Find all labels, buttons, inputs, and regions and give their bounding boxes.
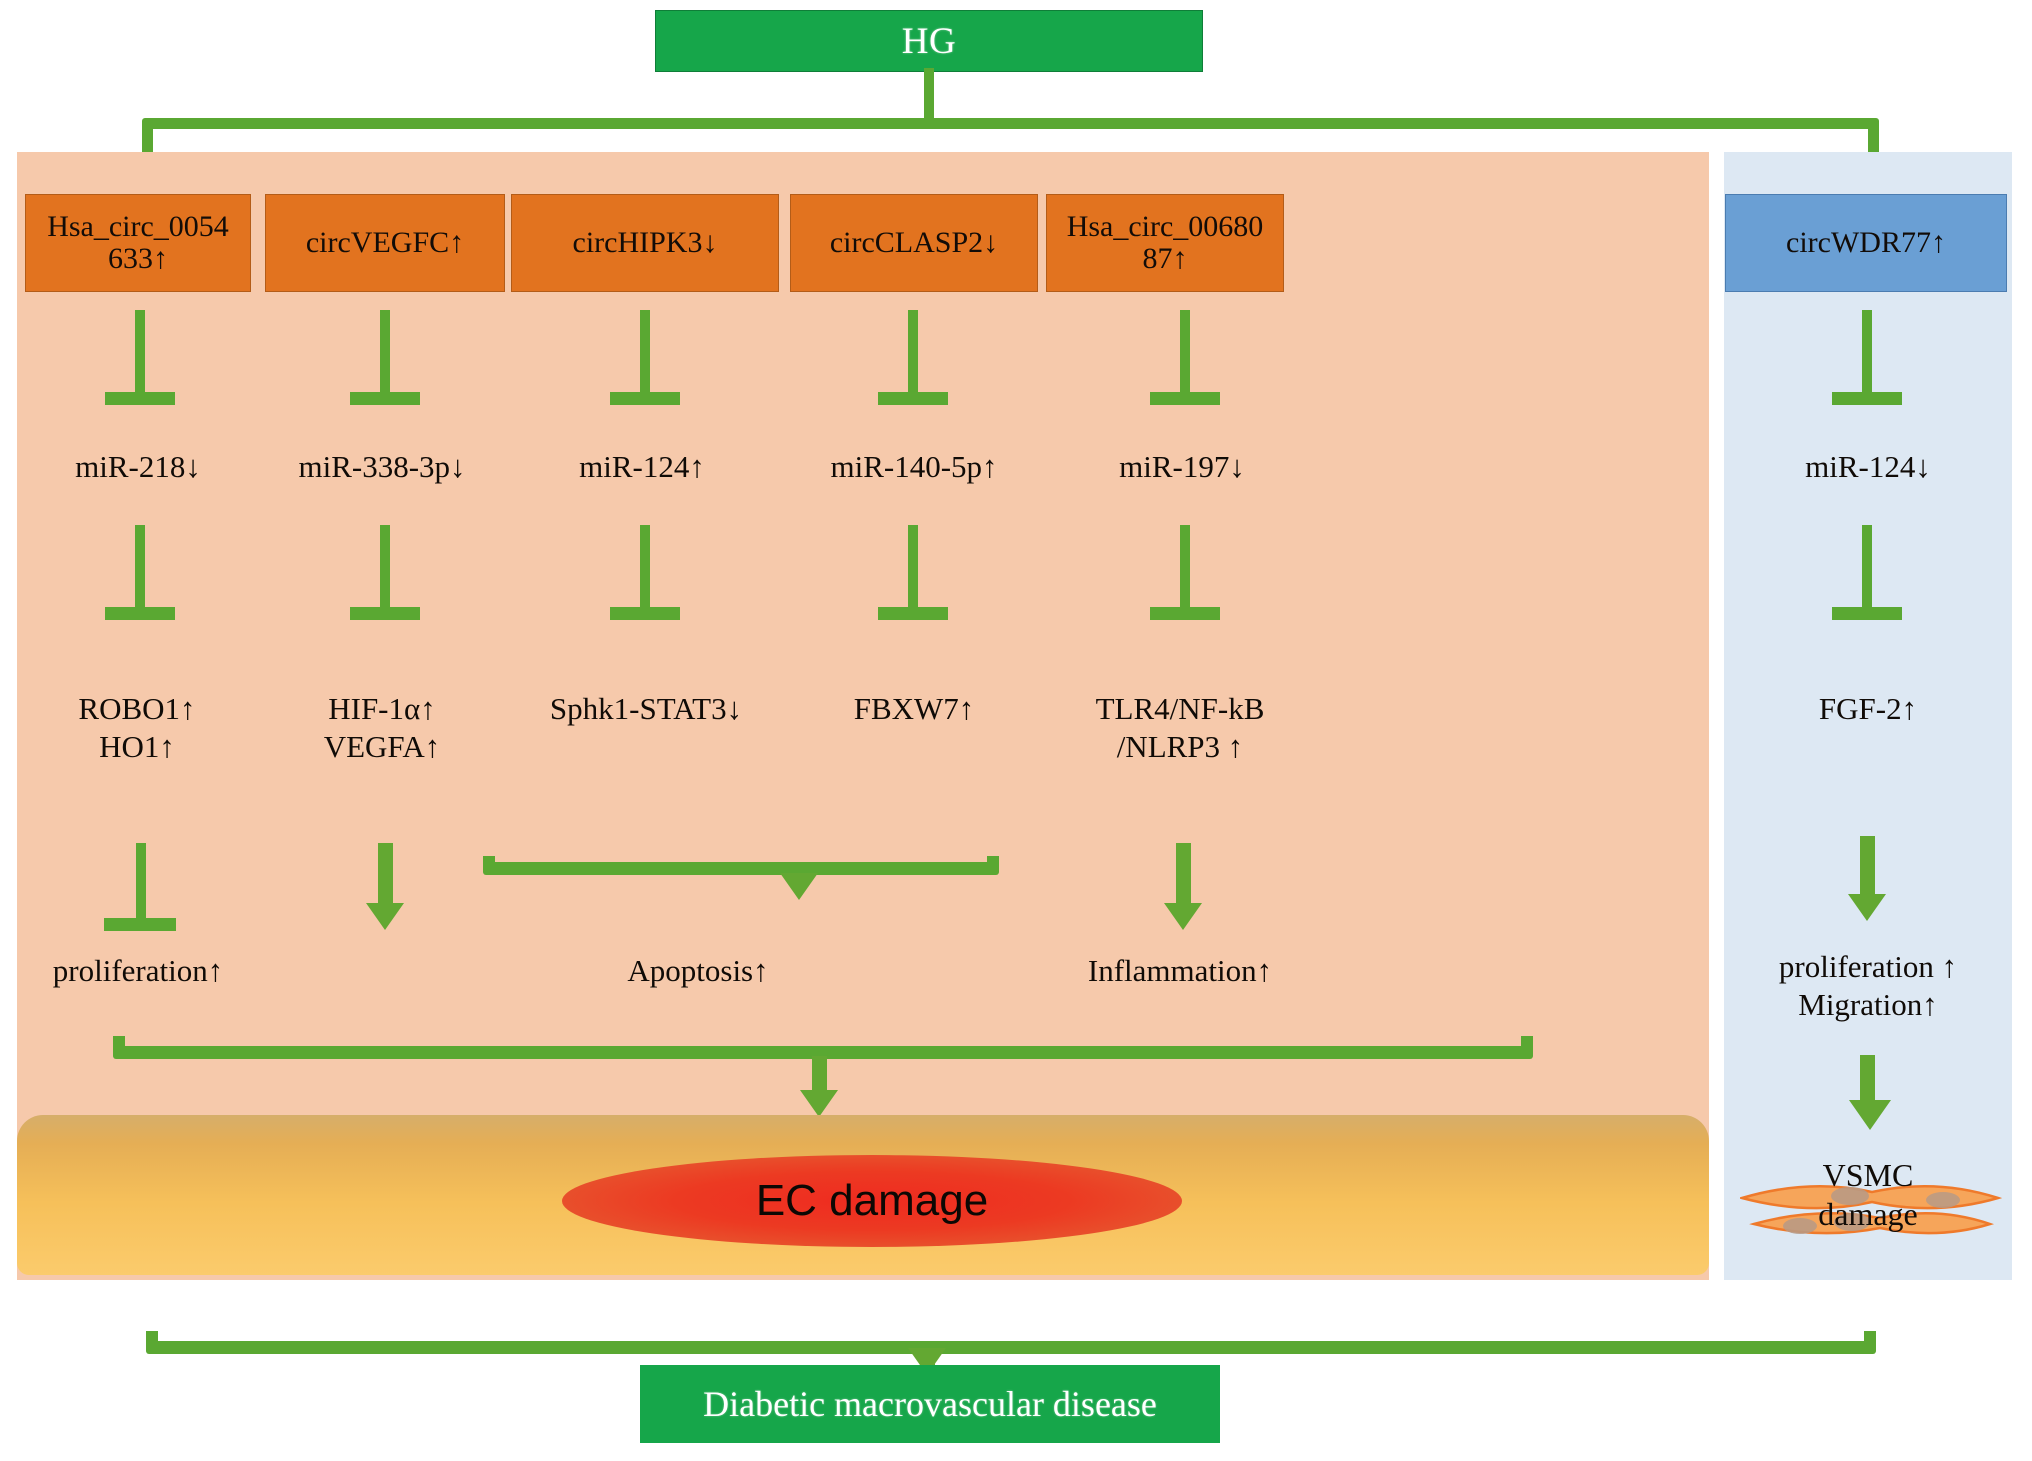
apoptosis-bracket-leg-right — [987, 856, 999, 872]
circrna-box-circwdr77[interactable]: circWDR77↑ — [1725, 194, 2007, 292]
activation-head-col5-effect — [1164, 903, 1202, 930]
hg-stem-connector — [924, 68, 934, 124]
vsmc-damage-arrow-shaft — [1860, 1055, 1875, 1103]
mirna-label-col4: miR-140-5p↑ — [790, 448, 1038, 486]
inhibition-stem-col1-mirna — [135, 310, 145, 395]
inhibition-stem-col3-mirna — [640, 310, 650, 395]
inhibition-foot-col3-target — [610, 607, 680, 620]
circrna-box-hsa-circ-0068087[interactable]: Hsa_circ_00680 87↑ — [1046, 194, 1284, 292]
target-label-col2: HIF-1α↑ VEGFA↑ — [262, 690, 502, 766]
activation-head-col6-effect — [1848, 894, 1886, 921]
circrna-box-circhipk3[interactable]: circHIPK3↓ — [511, 194, 779, 292]
inhibition-foot-col2-mirna — [350, 392, 420, 405]
ec-damage-label: EC damage — [562, 1176, 1182, 1226]
disease-bracket-leg-right — [1864, 1331, 1876, 1351]
target-label-col1: ROBO1↑ HO1↑ — [28, 690, 246, 766]
inhibition-stem-col2-mirna — [380, 310, 390, 395]
activation-head-col2-effect — [366, 903, 404, 930]
inhibition-foot-col4-mirna — [878, 392, 948, 405]
vsmc-damage-label: VSMC damage — [1724, 1156, 2012, 1234]
effect-label-proliferation: proliferation↑ — [26, 952, 250, 990]
effect-label-vsmc-effects: proliferation ↑ Migration↑ — [1724, 948, 2012, 1024]
circrna-label: circCLASP2↓ — [830, 227, 998, 259]
disease-bracket-leg-left — [146, 1331, 158, 1351]
inhibition-stem-col5-target — [1180, 525, 1190, 610]
inhibition-foot-col4-target — [878, 607, 948, 620]
ec-damage-bracket-leg-right — [1521, 1036, 1533, 1056]
vsmc-damage-arrow-head — [1849, 1100, 1891, 1130]
target-label-col4: FBXW7↑ — [790, 690, 1038, 728]
stimulus-label: HG — [902, 20, 956, 63]
circrna-label: Hsa_circ_00680 87↑ — [1051, 211, 1279, 276]
mirna-label-col3: miR-124↑ — [522, 448, 762, 486]
mirna-label-col1: miR-218↓ — [30, 448, 246, 486]
apoptosis-bracket-leg-left — [483, 856, 495, 872]
mirna-label-col6: miR-124↓ — [1724, 448, 2012, 486]
inhibition-foot-col3-mirna — [610, 392, 680, 405]
apoptosis-bracket-arrowhead — [780, 873, 818, 900]
ec-damage-arrow-shaft — [812, 1056, 827, 1094]
ec-damage-bracket-leg-left — [113, 1036, 125, 1056]
inhibition-stem-col2-target — [380, 525, 390, 610]
circrna-label: circHIPK3↓ — [573, 227, 718, 259]
stimulus-node-hg: HG — [655, 10, 1203, 72]
target-label-col6: FGF-2↑ — [1724, 690, 2012, 728]
inhibition-stem-col5-mirna — [1180, 310, 1190, 395]
inhibition-stem-col1-target — [135, 525, 145, 610]
activation-shaft-col5-effect — [1176, 843, 1191, 905]
target-label-col3: Sphk1-STAT3↓ — [512, 690, 780, 728]
target-label-col5: TLR4/NF-kB /NLRP3 ↑ — [1058, 690, 1302, 766]
effect-label-inflammation: Inflammation↑ — [1046, 952, 1314, 990]
inhibition-foot-col1-target — [105, 607, 175, 620]
pathway-diagram: HG Hsa_circ_0054 633↑ circVEGFC↑ circHIP… — [0, 0, 2032, 1461]
inhibition-stem-col4-mirna — [908, 310, 918, 395]
disease-bracket-bar — [146, 1341, 1876, 1354]
outcome-node-disease: Diabetic macrovascular disease — [640, 1365, 1220, 1443]
circrna-label: Hsa_circ_0054 633↑ — [30, 211, 246, 276]
circrna-label: circWDR77↑ — [1786, 227, 1946, 259]
outcome-label: Diabetic macrovascular disease — [703, 1383, 1157, 1425]
inhibition-foot-col6-mirna — [1832, 392, 1902, 405]
inhibition-foot-col5-mirna — [1150, 392, 1220, 405]
inhibition-foot-col5-target — [1150, 607, 1220, 620]
inhibition-stem-col3-target — [640, 525, 650, 610]
inhibition-foot-col2-target — [350, 607, 420, 620]
activation-shaft-col2-effect — [378, 843, 393, 905]
inhibition-foot-col1-effect — [104, 918, 176, 931]
activation-shaft-col6-effect — [1860, 836, 1875, 896]
circrna-label: circVEGFC↑ — [306, 227, 464, 259]
circrna-box-hsa-circ-0054633[interactable]: Hsa_circ_0054 633↑ — [25, 194, 251, 292]
ec-damage-arrow-head — [800, 1090, 838, 1117]
inhibition-foot-col6-target — [1832, 607, 1902, 620]
hg-distribution-bar — [142, 118, 1879, 129]
inhibition-stem-col6-mirna — [1862, 310, 1872, 395]
inhibition-stem-col1-effect — [136, 843, 146, 921]
inhibition-stem-col6-target — [1862, 525, 1872, 610]
mirna-label-col5: miR-197↓ — [1064, 448, 1300, 486]
inhibition-foot-col1-mirna — [105, 392, 175, 405]
circrna-box-circvegfc[interactable]: circVEGFC↑ — [265, 194, 505, 292]
inhibition-stem-col4-target — [908, 525, 918, 610]
apoptosis-bracket-bar — [483, 862, 999, 875]
effect-label-apoptosis: Apoptosis↑ — [548, 952, 848, 990]
mirna-label-col2: miR-338-3p↓ — [262, 448, 502, 486]
circrna-box-circclasp2[interactable]: circCLASP2↓ — [790, 194, 1038, 292]
